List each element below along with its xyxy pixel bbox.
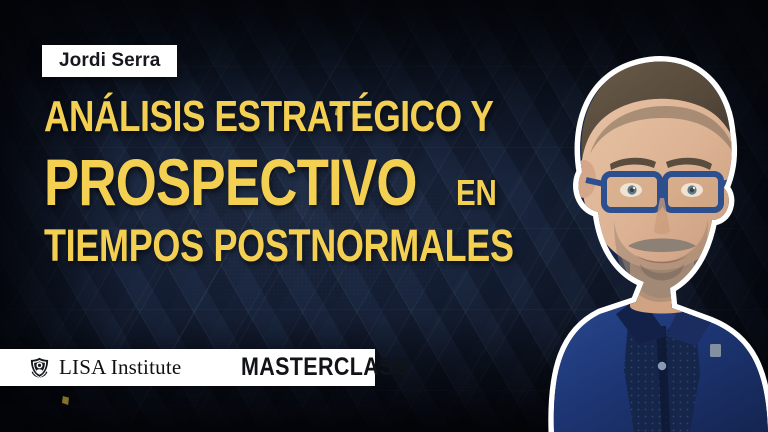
lisa-institute-logo: LISA Institute — [28, 356, 181, 379]
masterclass-label: MASTERCLASS — [241, 355, 408, 380]
portrait-lapel-pin — [710, 344, 721, 357]
lisa-institute-wordmark: LISA Institute — [59, 357, 181, 378]
headline-line-3: TIEMPOS POSTNORMALES — [44, 224, 420, 267]
brand-bar: LISA Institute MASTERCLASS — [0, 349, 375, 386]
headline-line-1: ANÁLISIS ESTRATÉGICO Y — [44, 96, 420, 138]
thumbnail-canvas: Jordi Serra ANÁLISIS ESTRATÉGICO Y PROSP… — [0, 0, 768, 432]
lisa-shield-crest-icon — [28, 356, 51, 379]
speaker-name-badge: Jordi Serra — [42, 45, 177, 77]
speaker-portrait — [404, 14, 768, 432]
headline-emphasis-word: PROSPECTIVO — [44, 144, 417, 220]
speaker-portrait-illustration — [404, 14, 768, 432]
